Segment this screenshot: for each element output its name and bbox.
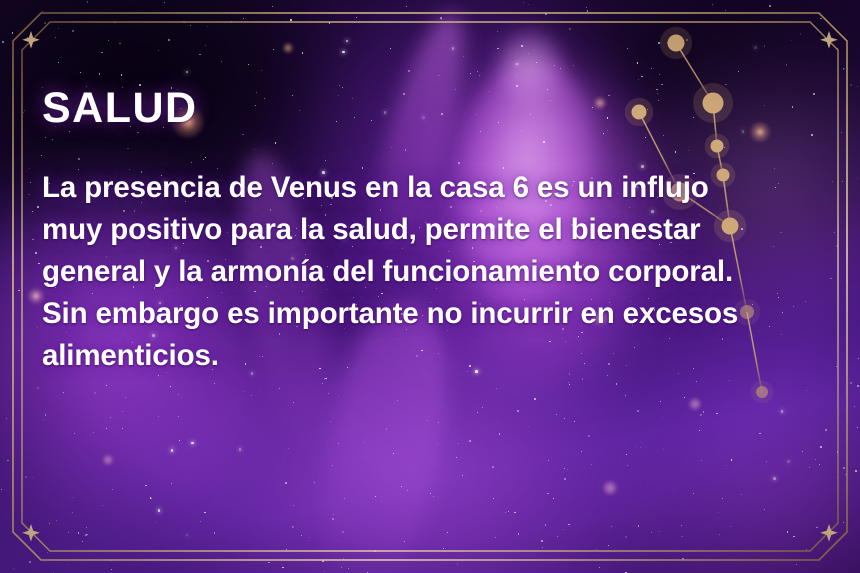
star — [850, 382, 852, 384]
body-line: muy positivo para la salud, permite el b… — [42, 209, 832, 251]
star — [858, 358, 859, 359]
star — [837, 477, 838, 478]
star — [338, 443, 339, 444]
star — [200, 521, 201, 522]
star — [682, 558, 684, 560]
star — [285, 482, 287, 484]
star — [658, 42, 660, 44]
star — [13, 568, 14, 569]
star — [171, 483, 172, 484]
star — [125, 397, 126, 398]
star — [679, 40, 680, 41]
star — [574, 421, 575, 422]
star — [764, 509, 765, 510]
star — [651, 68, 652, 69]
star — [99, 73, 100, 74]
star — [87, 1, 88, 2]
star — [616, 383, 617, 384]
star — [470, 73, 471, 74]
star — [786, 64, 787, 65]
star — [635, 446, 636, 447]
star — [292, 526, 293, 527]
star — [7, 460, 9, 462]
star — [111, 569, 112, 570]
star — [626, 454, 627, 455]
star — [86, 527, 87, 528]
star — [493, 498, 494, 499]
star — [716, 413, 717, 414]
star — [332, 518, 334, 520]
star — [332, 465, 333, 466]
star — [806, 549, 807, 550]
star — [569, 28, 571, 30]
star — [407, 490, 408, 491]
star — [55, 37, 56, 38]
star — [110, 417, 111, 418]
star — [58, 62, 59, 63]
star — [769, 5, 771, 7]
star — [731, 459, 732, 460]
star — [505, 512, 506, 513]
star — [854, 406, 855, 407]
star — [18, 290, 19, 291]
star — [101, 52, 102, 53]
star — [231, 21, 232, 22]
star — [72, 512, 73, 513]
star — [842, 181, 843, 182]
star — [344, 498, 345, 499]
star — [517, 410, 519, 412]
star — [44, 22, 46, 24]
star — [641, 76, 643, 78]
star — [288, 448, 289, 449]
star — [251, 395, 252, 396]
star — [857, 385, 859, 387]
star — [293, 505, 294, 506]
star — [243, 391, 244, 392]
star — [87, 534, 88, 535]
star — [364, 442, 365, 443]
star — [457, 563, 458, 564]
star — [183, 21, 185, 23]
star — [557, 536, 558, 537]
star — [47, 552, 48, 553]
star — [406, 6, 407, 7]
star — [738, 71, 739, 72]
star — [693, 493, 694, 494]
star — [40, 540, 41, 541]
star — [30, 182, 31, 183]
star — [27, 37, 28, 38]
star — [588, 435, 590, 437]
body-line: Sin embargo es importante no incurrir en… — [42, 293, 832, 335]
star — [638, 525, 639, 526]
star — [145, 485, 147, 487]
star — [239, 448, 242, 451]
star — [508, 511, 509, 512]
star — [214, 383, 215, 384]
star — [836, 245, 838, 247]
star — [259, 390, 260, 391]
star — [32, 239, 33, 240]
star — [29, 168, 30, 169]
star — [381, 501, 382, 502]
star — [667, 42, 669, 44]
star — [150, 497, 151, 498]
star — [6, 418, 7, 419]
star — [440, 17, 442, 19]
star — [114, 22, 115, 23]
star — [700, 414, 702, 416]
star — [341, 567, 342, 568]
star — [356, 17, 357, 18]
star — [637, 410, 639, 412]
star — [553, 498, 554, 499]
star — [324, 571, 325, 572]
star — [482, 407, 483, 408]
star — [325, 378, 326, 379]
star — [58, 28, 59, 29]
star — [112, 489, 113, 490]
star — [390, 48, 391, 49]
star — [29, 561, 31, 563]
star — [495, 537, 496, 538]
star — [541, 540, 543, 542]
star — [599, 567, 600, 568]
star — [85, 534, 87, 536]
star — [764, 45, 765, 46]
star — [568, 382, 569, 383]
star — [806, 390, 807, 391]
star — [106, 385, 107, 386]
horoscope-card: SALUD La presencia de Venus en la casa 6… — [0, 0, 860, 573]
star — [282, 567, 283, 568]
star — [651, 532, 652, 533]
star — [528, 53, 529, 54]
star — [802, 451, 803, 452]
star — [800, 33, 801, 34]
star — [122, 411, 123, 412]
star — [190, 25, 191, 26]
star — [49, 523, 50, 524]
star — [170, 386, 171, 387]
star — [102, 505, 103, 506]
star — [348, 568, 349, 569]
star — [545, 524, 546, 525]
star — [766, 461, 767, 462]
star — [712, 4, 713, 5]
star — [248, 64, 249, 65]
star — [556, 414, 557, 415]
star — [857, 178, 858, 179]
star — [521, 45, 523, 47]
star — [582, 378, 583, 379]
star — [80, 72, 81, 73]
star — [438, 75, 439, 76]
star — [25, 476, 27, 478]
star — [94, 392, 96, 394]
star — [12, 32, 13, 33]
star — [820, 446, 822, 448]
star — [554, 65, 555, 66]
star — [586, 7, 587, 8]
star — [191, 442, 194, 445]
star — [477, 71, 478, 72]
star — [479, 75, 480, 76]
star — [857, 86, 858, 87]
star — [121, 74, 122, 75]
star — [37, 206, 39, 208]
star — [699, 430, 700, 431]
star — [660, 401, 661, 402]
star — [703, 411, 704, 412]
star — [386, 428, 387, 429]
star — [221, 61, 222, 62]
star — [518, 533, 519, 534]
star — [447, 532, 448, 533]
star — [567, 469, 568, 470]
star — [441, 19, 442, 20]
star — [834, 232, 835, 233]
star — [78, 532, 79, 533]
star — [346, 40, 349, 43]
star — [640, 447, 641, 448]
star — [456, 457, 457, 458]
star — [718, 512, 719, 513]
star — [374, 550, 376, 552]
star — [725, 10, 726, 11]
star — [427, 420, 428, 421]
glow-star — [602, 480, 618, 496]
star — [32, 211, 33, 212]
star — [452, 47, 455, 50]
star — [637, 62, 639, 64]
star — [587, 10, 588, 11]
star — [496, 388, 497, 389]
star — [564, 478, 566, 480]
star — [314, 482, 315, 483]
star — [516, 76, 517, 77]
star — [214, 532, 215, 533]
star — [497, 31, 498, 32]
star — [663, 449, 664, 450]
star — [469, 440, 471, 442]
star — [207, 26, 208, 27]
star — [301, 535, 302, 536]
star — [309, 537, 310, 538]
page-title: SALUD — [42, 86, 832, 131]
star — [268, 562, 269, 563]
star — [119, 43, 121, 45]
star — [542, 547, 543, 548]
star — [836, 366, 837, 367]
glow-star — [282, 42, 294, 54]
body-line: alimenticios. — [42, 335, 832, 377]
star — [596, 549, 597, 550]
star — [569, 384, 570, 385]
star — [843, 522, 844, 523]
star — [18, 30, 19, 31]
star — [627, 48, 628, 49]
star — [462, 475, 463, 476]
star — [328, 393, 329, 394]
star — [401, 486, 402, 487]
star — [68, 532, 69, 533]
star — [625, 395, 626, 396]
star — [729, 380, 730, 381]
star — [581, 451, 582, 452]
star — [796, 564, 797, 565]
star — [548, 460, 549, 461]
star — [659, 531, 660, 532]
star — [329, 22, 331, 24]
star — [438, 422, 439, 423]
star — [726, 465, 727, 466]
star — [662, 417, 663, 418]
star — [23, 112, 24, 113]
star — [850, 84, 852, 86]
star — [722, 498, 723, 499]
star — [158, 50, 159, 51]
star — [463, 56, 464, 57]
star — [560, 68, 561, 69]
star — [430, 493, 431, 494]
star — [573, 65, 574, 66]
star — [205, 45, 207, 47]
star — [492, 466, 494, 468]
star — [106, 428, 107, 429]
star — [324, 378, 325, 379]
star — [847, 281, 848, 282]
star — [322, 560, 324, 562]
body-line: La presencia de Venus en la casa 6 es un… — [42, 167, 832, 209]
star — [302, 52, 303, 53]
star — [158, 416, 159, 417]
star — [279, 388, 280, 389]
star — [499, 433, 500, 434]
star — [28, 194, 29, 195]
star — [408, 70, 410, 72]
star — [56, 520, 57, 521]
star — [568, 524, 569, 525]
star — [564, 418, 565, 419]
star — [638, 79, 639, 80]
star — [443, 548, 444, 549]
star — [719, 534, 720, 535]
star — [178, 416, 179, 417]
star — [393, 453, 394, 454]
star — [155, 522, 156, 523]
star — [845, 474, 846, 475]
star — [122, 428, 123, 429]
star — [523, 2, 524, 3]
star — [477, 412, 478, 413]
star — [855, 470, 857, 472]
star — [545, 13, 547, 15]
star — [37, 327, 38, 328]
star — [730, 526, 731, 527]
star — [178, 394, 179, 395]
star — [793, 536, 794, 537]
star — [497, 48, 499, 50]
star — [243, 18, 244, 19]
text-content: SALUD La presencia de Venus en la casa 6… — [42, 86, 832, 377]
star — [322, 383, 323, 384]
star — [73, 497, 74, 498]
star — [93, 432, 94, 433]
star — [841, 132, 842, 133]
star — [608, 545, 609, 546]
star — [754, 46, 757, 49]
star — [261, 70, 262, 71]
star — [627, 465, 628, 466]
star — [37, 387, 39, 389]
star — [45, 414, 46, 415]
star — [1, 489, 2, 490]
star — [844, 68, 845, 69]
star — [591, 464, 592, 465]
star — [186, 71, 189, 74]
star — [837, 48, 838, 49]
star — [72, 30, 74, 32]
star — [171, 449, 174, 452]
star — [686, 39, 688, 41]
star — [82, 541, 83, 542]
star — [458, 443, 459, 444]
star — [433, 496, 434, 497]
body-paragraph: La presencia de Venus en la casa 6 es un… — [42, 167, 832, 376]
star — [38, 263, 39, 264]
star — [564, 468, 565, 469]
star — [843, 467, 845, 469]
star — [199, 54, 200, 55]
star — [528, 4, 529, 5]
star — [186, 534, 189, 537]
star — [857, 427, 858, 428]
star — [791, 40, 792, 41]
star — [837, 451, 839, 453]
star — [547, 493, 549, 495]
star — [286, 549, 287, 550]
star — [343, 558, 344, 559]
star — [293, 402, 294, 403]
star — [179, 440, 180, 441]
star — [534, 398, 536, 400]
star — [337, 540, 338, 541]
star — [33, 477, 34, 478]
star — [2, 41, 4, 43]
star — [787, 531, 788, 532]
star — [272, 6, 273, 7]
star — [437, 443, 438, 444]
star — [741, 494, 742, 495]
body-line: general y la armonía del funcionamiento … — [42, 251, 832, 293]
glow-star — [102, 454, 114, 466]
star — [781, 410, 784, 413]
star — [67, 564, 68, 565]
star — [659, 74, 660, 75]
star — [681, 536, 682, 537]
star — [563, 529, 564, 530]
star — [820, 18, 821, 19]
star — [787, 460, 790, 463]
star — [404, 541, 405, 542]
star — [397, 400, 398, 401]
star — [696, 381, 697, 382]
star — [681, 525, 682, 526]
star — [759, 433, 761, 435]
star — [158, 509, 161, 512]
